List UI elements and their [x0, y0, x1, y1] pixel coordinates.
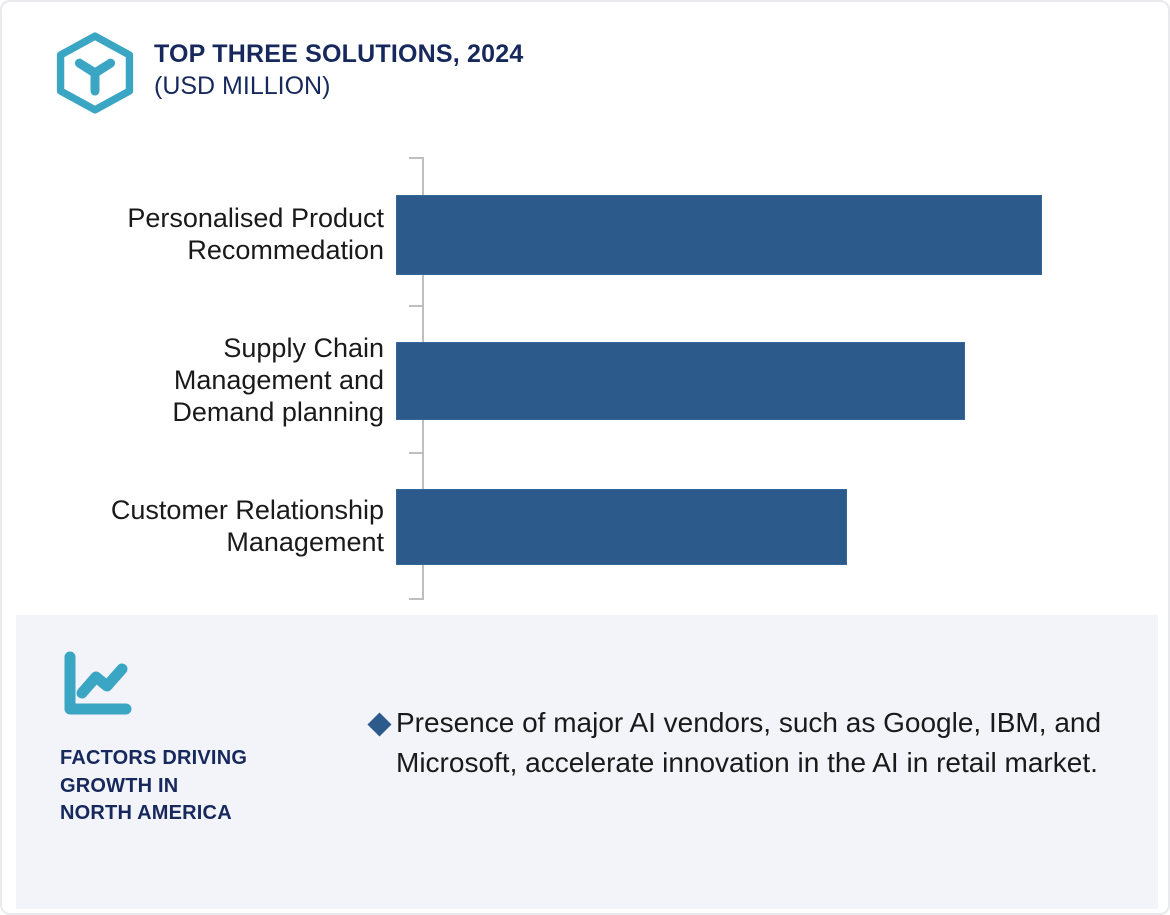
factors-heading-line: GROWTH IN	[60, 773, 340, 801]
bar-track	[392, 489, 1170, 565]
bar-label-line: Supply Chain	[2, 333, 384, 365]
bar-row: Supply Chain Management and Demand plann…	[2, 342, 1170, 420]
bar-label-line: Recommedation	[2, 235, 384, 267]
diamond-bullet-icon	[367, 712, 391, 736]
bar-label-line: Management and	[2, 365, 384, 397]
bar-track	[392, 342, 1170, 420]
bar-label-line: Demand planning	[2, 397, 384, 429]
axis-tick	[409, 157, 423, 159]
infographic-card: TOP THREE SOLUTIONS, 2024 (USD MILLION) …	[0, 0, 1170, 915]
bar-label-line: Personalised Product	[2, 203, 384, 235]
factors-heading-line: NORTH AMERICA	[60, 800, 340, 828]
bar-label: Supply Chain Management and Demand plann…	[2, 333, 392, 429]
bullet-list: Presence of major AI vendors, such as Go…	[371, 703, 1131, 783]
bar-personalised-product-recommedation	[396, 195, 1042, 275]
axis-tick	[409, 305, 423, 307]
factors-heading: FACTORS DRIVING GROWTH IN NORTH AMERICA	[60, 745, 340, 828]
bar-label: Customer Relationship Management	[2, 495, 392, 559]
bullet-text: Presence of major AI vendors, such as Go…	[396, 703, 1131, 783]
factors-heading-line: FACTORS DRIVING	[60, 745, 340, 773]
hexagon-y-logo-icon	[54, 32, 136, 114]
axis-tick	[409, 598, 423, 600]
bar-label-line: Customer Relationship	[2, 495, 384, 527]
bar-track	[392, 195, 1170, 275]
title-block: TOP THREE SOLUTIONS, 2024 (USD MILLION)	[154, 32, 523, 101]
bar-customer-relationship-management	[396, 489, 847, 565]
page-title: TOP THREE SOLUTIONS, 2024	[154, 40, 523, 70]
bar-row: Customer Relationship Management	[2, 489, 1170, 565]
factors-column: FACTORS DRIVING GROWTH IN NORTH AMERICA	[60, 651, 340, 828]
page-subtitle: (USD MILLION)	[154, 72, 523, 102]
bar-label-line: Management	[2, 527, 384, 559]
factors-panel: FACTORS DRIVING GROWTH IN NORTH AMERICA …	[16, 615, 1158, 909]
bar-row: Personalised Product Recommedation	[2, 195, 1170, 275]
bar-label: Personalised Product Recommedation	[2, 203, 392, 267]
bar-chart: Personalised Product Recommedation Suppl…	[2, 152, 1170, 612]
bar-supply-chain-management-and-demand-planning	[396, 342, 965, 420]
axis-tick	[409, 452, 423, 454]
line-chart-icon	[60, 651, 340, 719]
header: TOP THREE SOLUTIONS, 2024 (USD MILLION)	[54, 32, 523, 114]
